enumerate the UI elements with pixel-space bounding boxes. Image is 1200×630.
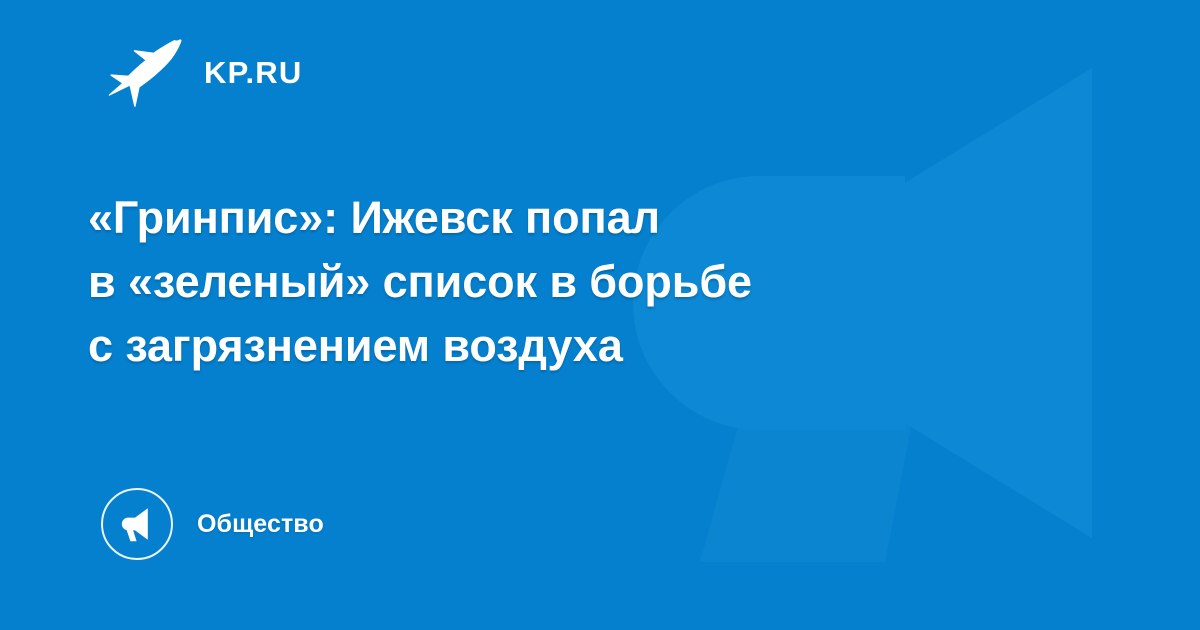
page-title: «Гринпис»: Ижевск попал в «зеленый» спис… — [88, 186, 988, 378]
headline-line-3: с загрязнением воздуха — [88, 314, 988, 378]
site-header: KP.RU — [108, 36, 302, 108]
badge-icon-circle — [101, 488, 173, 560]
category-label: Общество — [197, 512, 324, 537]
swallow-bird-icon — [108, 37, 182, 107]
headline-line-2: в «зеленый» список в борьбе — [88, 250, 988, 314]
brand-wordmark: KP.RU — [204, 57, 302, 88]
share-card: KP.RU «Гринпис»: Ижевск попал в «зеленый… — [0, 0, 1200, 630]
megaphone-icon — [117, 504, 157, 544]
category-badge[interactable]: Общество — [101, 487, 324, 561]
headline-line-1: «Гринпис»: Ижевск попал — [88, 186, 988, 250]
